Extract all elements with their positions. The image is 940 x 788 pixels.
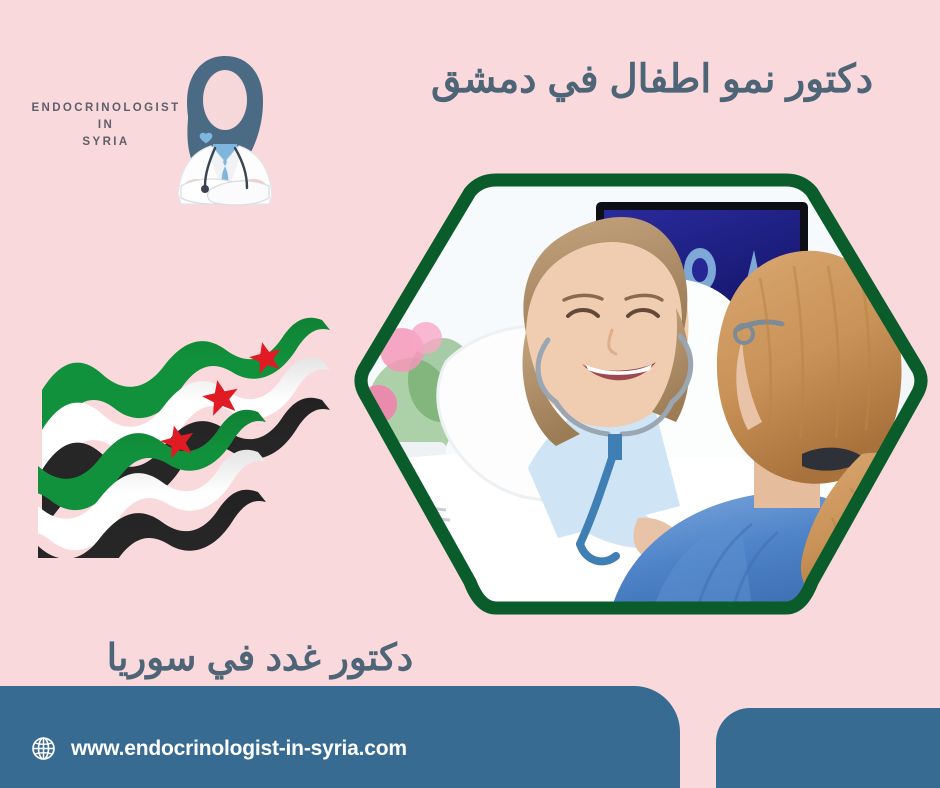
page-title: دكتور نمو اطفال في دمشق — [412, 54, 892, 105]
brand-logo[interactable]: ENDOCRINOLOGIST IN SYRIA — [22, 48, 292, 213]
brand-logo-text: ENDOCRINOLOGIST IN SYRIA — [30, 100, 182, 151]
female-doctor-hijab-illustration — [165, 48, 285, 210]
page-subtitle: دكتور غدد في سوريا — [40, 636, 480, 680]
poster-canvas: ENDOCRINOLOGIST IN SYRIA — [0, 0, 940, 788]
footer-website-link[interactable]: www.endocrinologist-in-syria.com — [30, 735, 407, 762]
doctor-examining-child-photo — [350, 166, 932, 622]
website-url-text: www.endocrinologist-in-syria.com — [71, 737, 407, 761]
globe-icon — [30, 735, 57, 762]
brand-logo-line-3: SYRIA — [30, 134, 182, 151]
brand-logo-line-1: ENDOCRINOLOGIST — [30, 100, 182, 117]
brand-logo-line-2: IN — [30, 117, 182, 134]
footer-bar-secondary — [716, 708, 940, 788]
syrian-independence-flag — [38, 296, 338, 558]
